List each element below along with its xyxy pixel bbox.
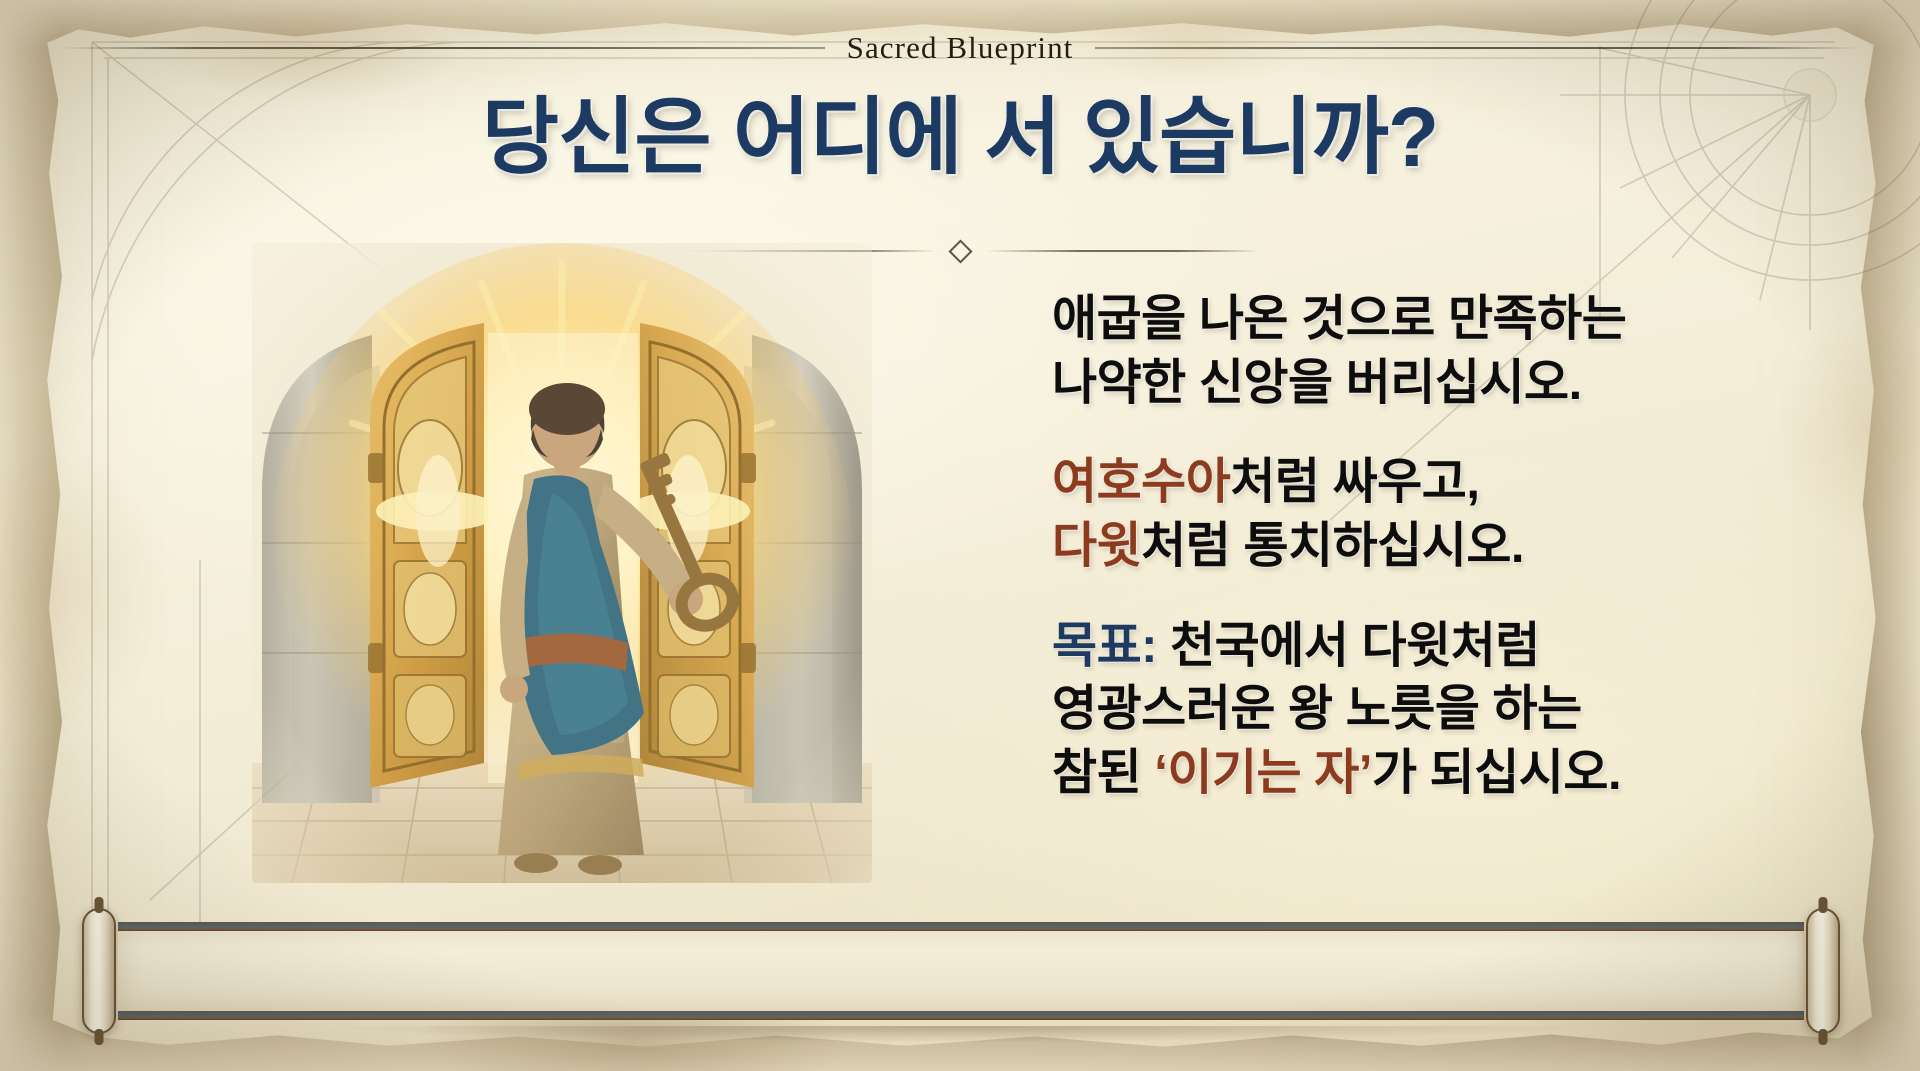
body-text-column: 애굽을 나온 것으로 만족하는 나약한 신앙을 버리십시오. 여호수아처럼 싸우… [1052, 288, 1842, 806]
highlight-overcomer: ‘이기는 자’ [1154, 746, 1372, 800]
line-text: 나약한 신앙을 버리십시오. [1052, 356, 1582, 410]
illustration-figure-with-key [252, 243, 872, 883]
paragraph-2: 여호수아처럼 싸우고, 다윗처럼 통치하십시오. [1052, 451, 1842, 578]
line-text: 천국에서 다윗처럼 [1157, 619, 1540, 673]
line-text: 애굽을 나온 것으로 만족하는 [1052, 292, 1626, 346]
scroll-banner-text [118, 922, 1804, 1020]
page-title: 당신은 어디에 서 있습니까? [0, 92, 1920, 183]
divider-line-right [985, 250, 1261, 252]
scroll-roll-left [82, 908, 116, 1034]
bottom-scroll-banner [72, 912, 1850, 1030]
slide-root: Sacred Blueprint 당신은 어디에 서 있습니까? [0, 0, 1920, 1071]
line-text: 처럼 통치하십시오. [1141, 519, 1524, 573]
line-text: 영광스러운 왕 노릇을 하는 [1052, 682, 1582, 736]
scroll-knob-top-right [1819, 897, 1828, 913]
scroll-knob-bottom-left [95, 1029, 104, 1045]
diamond-ornament-icon [948, 239, 972, 263]
line-text: 처럼 싸우고, [1230, 455, 1479, 509]
header-bar: Sacred Blueprint [60, 26, 1860, 70]
scroll-roll-right [1806, 908, 1840, 1034]
scroll-knob-top-left [95, 897, 104, 913]
scroll-knob-bottom-right [1819, 1029, 1828, 1045]
highlight-david: 다윗 [1052, 519, 1141, 573]
line-text: 가 되십시오. [1372, 746, 1621, 800]
header-rule-left [60, 47, 825, 49]
header-rule-right [1095, 47, 1860, 49]
paragraph-1: 애굽을 나온 것으로 만족하는 나약한 신앙을 버리십시오. [1052, 288, 1842, 415]
line-text: 참된 [1052, 746, 1154, 800]
brand-title: Sacred Blueprint [847, 30, 1074, 66]
paragraph-3: 목표: 천국에서 다윗처럼 영광스러운 왕 노릇을 하는 참된 ‘이기는 자’가… [1052, 615, 1842, 806]
highlight-joshua: 여호수아 [1052, 455, 1230, 509]
highlight-goal-label: 목표: [1052, 619, 1157, 673]
